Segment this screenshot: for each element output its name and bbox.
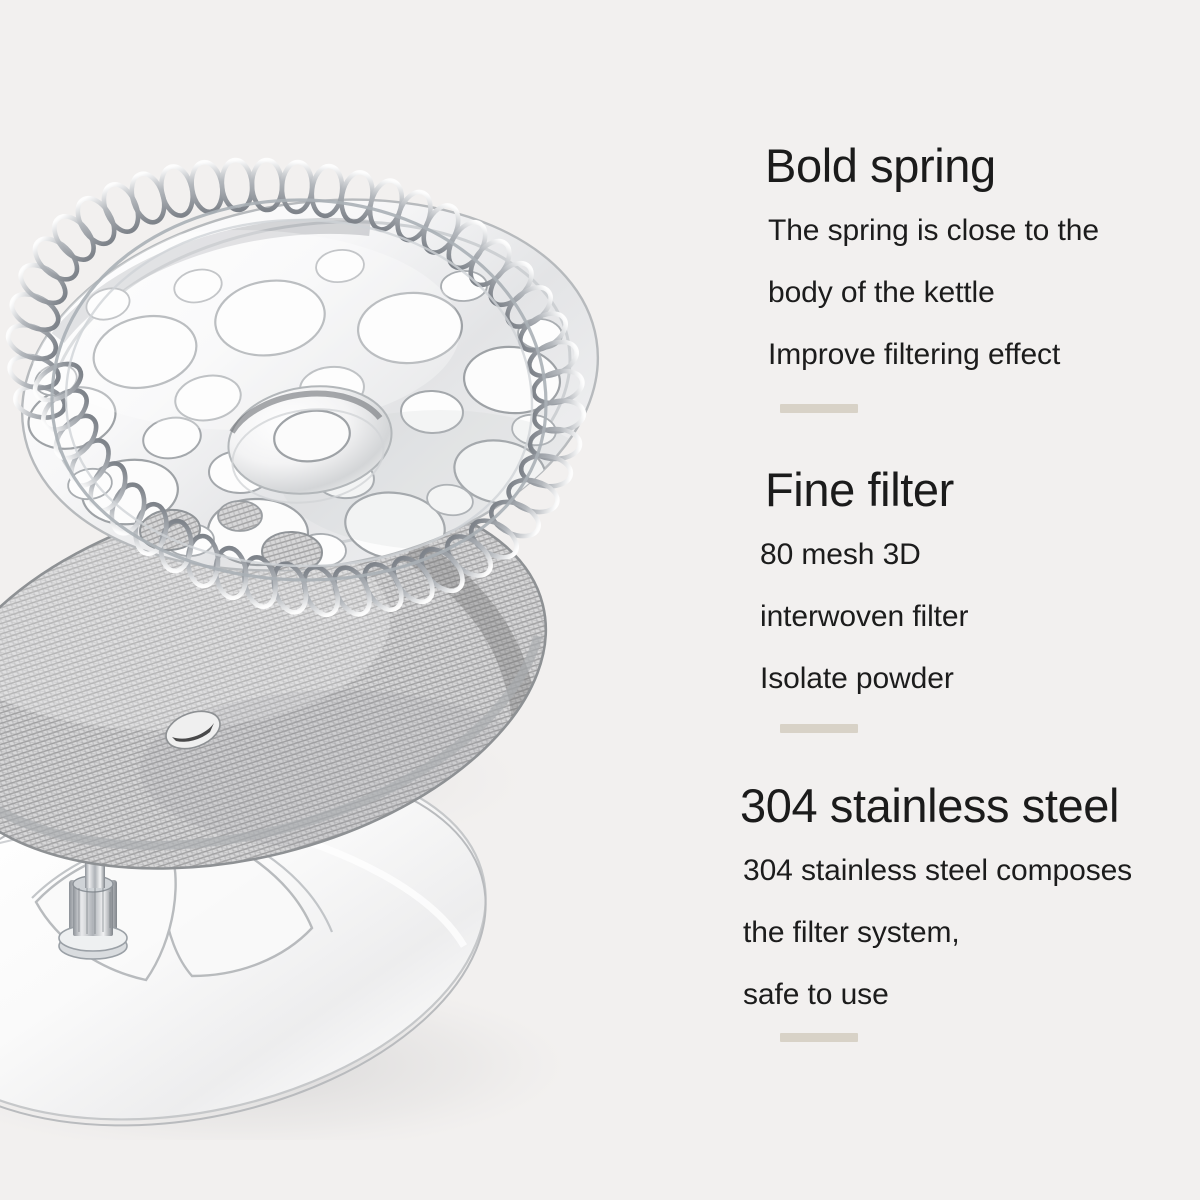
section-divider-2 — [780, 724, 858, 733]
feature-line-1-3: Improve filtering effect — [735, 324, 1200, 386]
feature-title-2: Fine filter — [735, 462, 1200, 518]
feature-line-2-1: 80 mesh 3D — [735, 524, 1200, 586]
feature-line-3-1: 304 stainless steel composes — [735, 840, 1200, 902]
feature-lines-2: 80 mesh 3D interwoven filter Isolate pow… — [735, 524, 1200, 710]
feature-text-column: Bold spring The spring is close to the b… — [735, 0, 1200, 1200]
feature-line-2-2: interwoven filter — [735, 586, 1200, 648]
feature-line-3-3: safe to use — [735, 964, 1200, 1026]
section-divider-3 — [780, 1033, 858, 1042]
feature-line-2-3: Isolate powder — [735, 648, 1200, 710]
feature-line-1-2: body of the kettle — [735, 262, 1200, 324]
feature-lines-3: 304 stainless steel composes the filter … — [735, 840, 1200, 1026]
feature-block-304-stainless-steel: 304 stainless steel 304 stainless steel … — [735, 778, 1200, 1026]
feature-line-1-1: The spring is close to the — [735, 200, 1200, 262]
infographic-canvas: Bold spring The spring is close to the b… — [0, 0, 1200, 1200]
product-photo — [0, 80, 700, 1140]
feature-block-bold-spring: Bold spring The spring is close to the b… — [735, 138, 1200, 386]
section-divider-1 — [780, 404, 858, 413]
feature-lines-1: The spring is close to the body of the k… — [735, 200, 1200, 386]
feature-title-3: 304 stainless steel — [735, 778, 1200, 834]
feature-title-1: Bold spring — [735, 138, 1200, 194]
feature-line-3-2: the filter system, — [735, 902, 1200, 964]
feature-block-fine-filter: Fine filter 80 mesh 3D interwoven filter… — [735, 462, 1200, 710]
